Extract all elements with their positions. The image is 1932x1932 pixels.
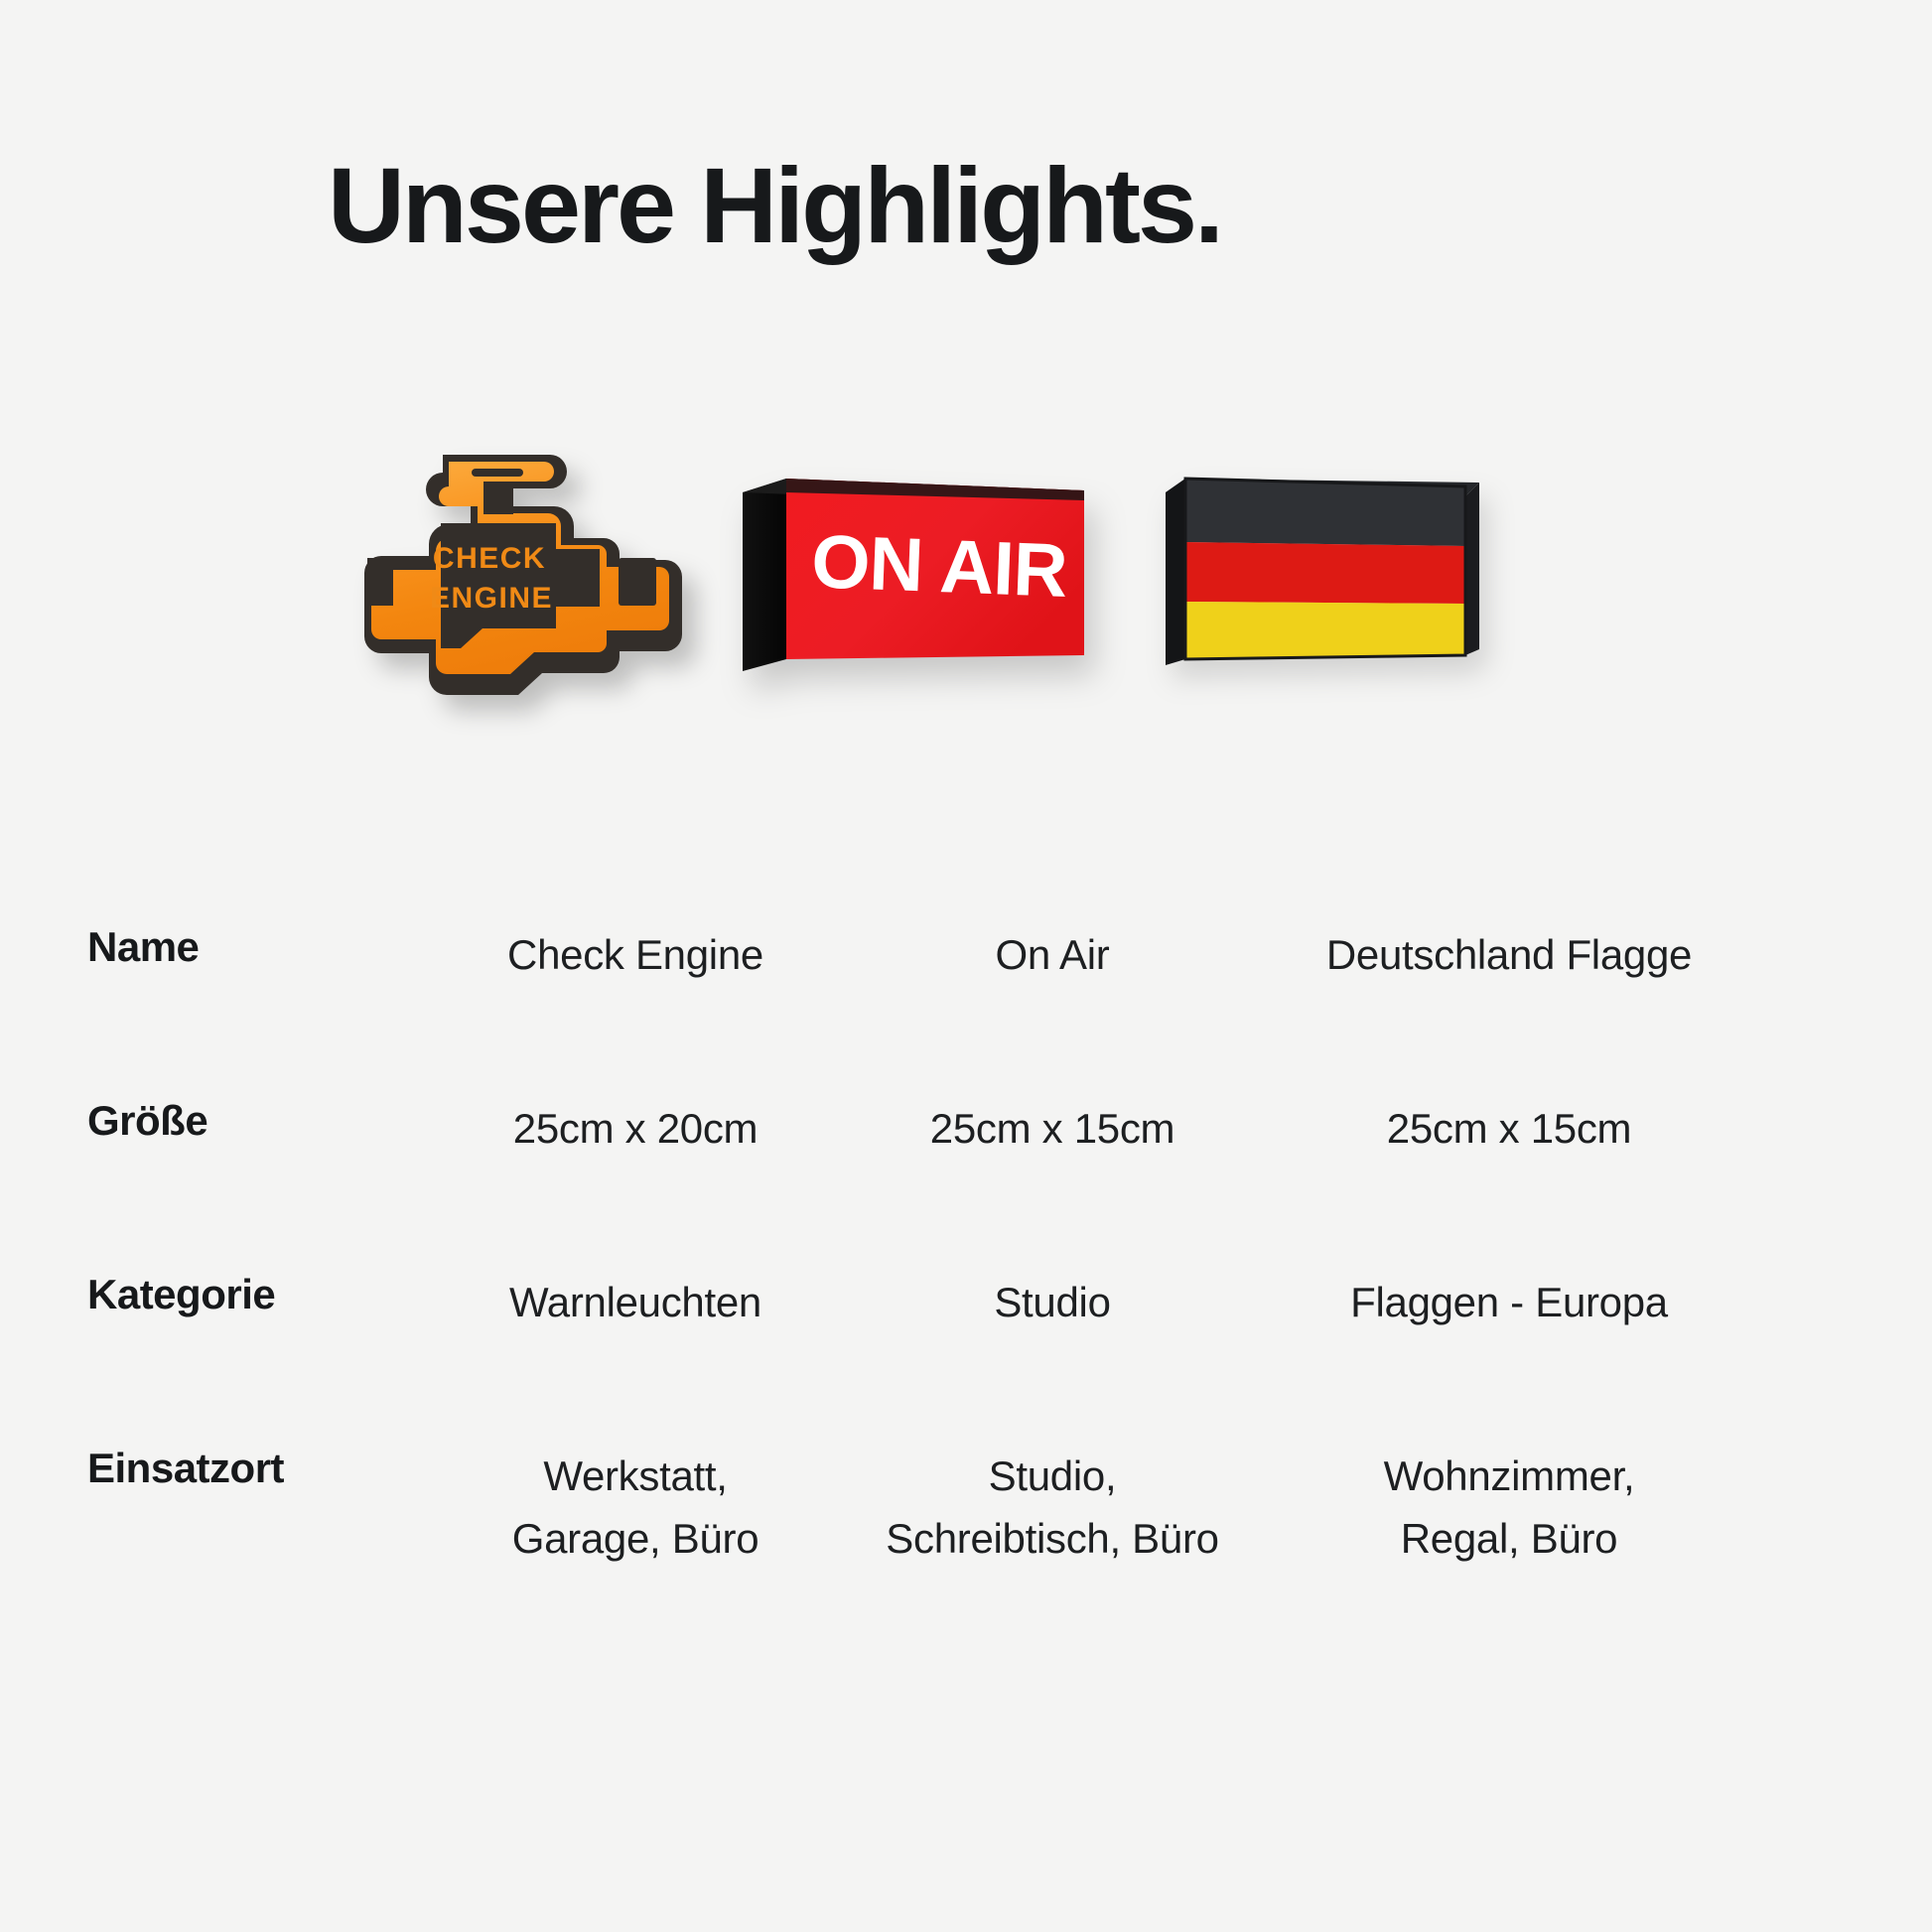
spec-row-kategorie: Kategorie Warnleuchten Studio Flaggen - …	[0, 1271, 1932, 1333]
spec-label-groesse: Größe	[0, 1097, 427, 1145]
spec-row-groesse: Größe 25cm x 20cm 25cm x 15cm 25cm x 15c…	[0, 1097, 1932, 1160]
spec-label-name: Name	[0, 923, 427, 971]
spec-value-kategorie-deutschland-flagge: Flaggen - Europa	[1261, 1271, 1757, 1333]
product-cell-deutschland-flagge[interactable]	[1132, 437, 1529, 735]
page-title: Unsere Highlights.	[0, 149, 1549, 261]
germany-flag-lightbox-image[interactable]	[1152, 465, 1489, 683]
spec-value-name-deutschland-flagge: Deutschland Flagge	[1261, 923, 1757, 986]
on-air-lightbox-image[interactable]: ON AIR	[735, 465, 1092, 693]
product-image-row: CHECK ENGINE	[0, 437, 1932, 735]
spec-value-groesse-on-air: 25cm x 15cm	[844, 1097, 1261, 1160]
check-engine-line2: ENGINE	[430, 582, 553, 615]
spec-value-line2: Garage, Büro	[427, 1507, 844, 1570]
spec-value-kategorie-on-air: Studio	[844, 1271, 1261, 1333]
spec-value-line1: Studio,	[844, 1445, 1261, 1507]
spec-label-einsatzort: Einsatzort	[0, 1445, 427, 1492]
flag-stripe-red	[1185, 542, 1465, 604]
spec-value-groesse-check-engine: 25cm x 20cm	[427, 1097, 844, 1160]
check-engine-sign-image[interactable]: CHECK ENGINE	[338, 447, 695, 705]
spec-value-einsatzort-check-engine: Werkstatt, Garage, Büro	[427, 1445, 844, 1570]
spec-table: Name Check Engine On Air Deutschland Fla…	[0, 923, 1932, 1570]
spec-row-einsatzort: Einsatzort Werkstatt, Garage, Büro Studi…	[0, 1445, 1932, 1570]
spec-value-name-on-air: On Air	[844, 923, 1261, 986]
product-cell-check-engine[interactable]: CHECK ENGINE	[298, 437, 755, 735]
spec-label-kategorie: Kategorie	[0, 1271, 427, 1318]
check-engine-line1: CHECK	[433, 542, 546, 575]
spec-value-groesse-deutschland-flagge: 25cm x 15cm	[1261, 1097, 1757, 1160]
spec-value-kategorie-check-engine: Warnleuchten	[427, 1271, 844, 1333]
spec-value-einsatzort-deutschland-flagge: Wohnzimmer, Regal, Büro	[1261, 1445, 1757, 1570]
spec-value-line2: Regal, Büro	[1261, 1507, 1757, 1570]
spec-value-line2: Schreibtisch, Büro	[844, 1507, 1261, 1570]
product-cell-on-air[interactable]: ON AIR	[735, 437, 1112, 735]
on-air-sign-text: ON AIR	[810, 519, 1068, 614]
spec-value-einsatzort-on-air: Studio, Schreibtisch, Büro	[844, 1445, 1261, 1570]
spec-value-line1: Werkstatt,	[427, 1445, 844, 1507]
spec-value-name-check-engine: Check Engine	[427, 923, 844, 986]
spec-value-line1: Wohnzimmer,	[1261, 1445, 1757, 1507]
spec-row-name: Name Check Engine On Air Deutschland Fla…	[0, 923, 1932, 986]
flag-stripe-black	[1185, 479, 1465, 546]
flag-stripe-gold	[1185, 602, 1465, 659]
